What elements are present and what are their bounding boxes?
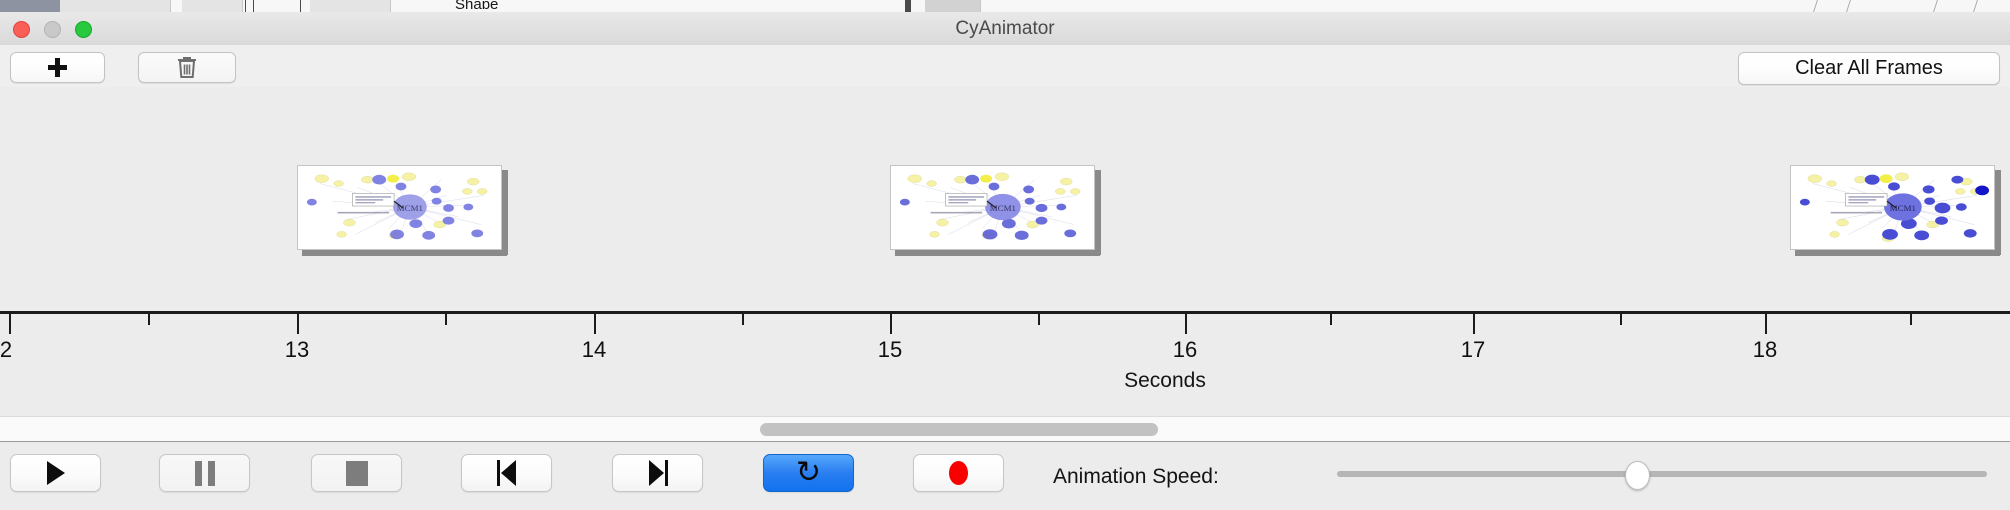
ruler-tick-major [1473, 314, 1475, 334]
stop-icon [346, 461, 368, 486]
ruler-tick-minor [1330, 314, 1332, 325]
scrollbar-thumb[interactable] [760, 423, 1158, 436]
frame-shadow [502, 170, 508, 255]
background-window-titlebar [0, 0, 60, 12]
network-thumbnail-image: MCM1 [891, 166, 1094, 249]
background-chunk [182, 0, 243, 12]
axis-title-label: Seconds [1124, 369, 1206, 392]
timeline-frame[interactable]: MCM1 [297, 165, 502, 250]
ruler-label: 13 [285, 337, 309, 363]
ruler-tick-minor [1910, 314, 1912, 325]
skip-forward-icon [645, 460, 671, 486]
network-thumbnail-image: MCM1 [1791, 166, 1994, 249]
previous-frame-button[interactable] [461, 454, 552, 492]
add-frame-button[interactable] [10, 52, 105, 83]
animation-speed-slider-track[interactable] [1337, 471, 1987, 477]
ruler-tick-major [1765, 314, 1767, 334]
background-tick [300, 0, 301, 12]
animation-speed-label: Animation Speed: [1053, 465, 1219, 489]
ruler-tick-major [9, 314, 11, 334]
frame-thumbnail: MCM1 [297, 165, 502, 250]
loop-button[interactable]: ↻ [763, 454, 854, 492]
ruler-tick-minor [148, 314, 150, 325]
animation-speed-slider-thumb[interactable] [1625, 461, 1650, 490]
record-icon [949, 461, 968, 485]
ruler-label: 14 [582, 337, 606, 363]
background-tick [905, 0, 911, 12]
svg-text:MCM1: MCM1 [397, 203, 423, 213]
next-frame-button[interactable] [612, 454, 703, 492]
timeline-frame[interactable]: MCM1 [1790, 165, 1995, 250]
ruler-label: 17 [1461, 337, 1485, 363]
loop-icon: ↻ [796, 458, 821, 488]
background-chunk [310, 0, 391, 12]
frame-shadow [1095, 170, 1101, 255]
window-title: CyAnimator [0, 12, 2010, 45]
clear-all-frames-button[interactable]: Clear All Frames [1738, 52, 2000, 85]
record-button[interactable] [913, 454, 1004, 492]
playback-toolbar: ↻ Animation Speed: [0, 443, 2010, 510]
timeline-frame[interactable]: MCM1 [890, 165, 1095, 250]
pause-button[interactable] [159, 454, 250, 492]
axis-title: Seconds [0, 369, 2010, 393]
ruler-tick-major [890, 314, 892, 334]
ruler-tick-minor [445, 314, 447, 325]
trash-icon [176, 55, 198, 80]
background-slant [1846, 0, 1851, 12]
ruler-label: 15 [878, 337, 902, 363]
frame-shadow [302, 250, 507, 256]
ruler-tick-major [297, 314, 299, 334]
ruler-label: 18 [1753, 337, 1777, 363]
background-slant [1973, 0, 1978, 12]
background-window-label: Shape [455, 0, 498, 9]
svg-text:MCM1: MCM1 [1890, 203, 1916, 213]
background-slant [1813, 0, 1818, 12]
play-icon [47, 461, 65, 485]
frame-shadow [895, 250, 1100, 256]
background-chunk [60, 0, 171, 12]
stop-button[interactable] [311, 454, 402, 492]
horizontal-scrollbar[interactable] [0, 416, 2010, 442]
timeline-canvas[interactable]: MCM1 [0, 87, 2010, 416]
play-button[interactable] [10, 454, 101, 492]
ruler-label: 2 [0, 337, 12, 363]
ruler-tick-minor [742, 314, 744, 325]
background-tick [253, 0, 254, 12]
ruler-tick-minor [1620, 314, 1622, 325]
frame-thumbnail: MCM1 [1790, 165, 1995, 250]
window-titlebar: CyAnimator [0, 12, 2010, 46]
delete-frame-button[interactable] [138, 52, 236, 83]
ruler-tick-minor [1038, 314, 1040, 325]
ruler-tick-major [594, 314, 596, 334]
ruler-tick-major [1185, 314, 1187, 334]
plus-icon [48, 58, 67, 77]
ruler-label: 16 [1173, 337, 1197, 363]
skip-back-icon [494, 460, 520, 486]
frame-thumbnail: MCM1 [890, 165, 1095, 250]
timeline-ruler-line [0, 311, 2010, 314]
background-tick [245, 0, 246, 12]
cyanimator-window: Shape CyAnimator Clear All Frames [0, 0, 2010, 510]
svg-text:MCM1: MCM1 [990, 203, 1016, 213]
background-chunk [925, 0, 981, 12]
frame-shadow [1795, 250, 2000, 256]
frame-shadow [1995, 170, 2001, 255]
background-slant [1933, 0, 1938, 12]
pause-icon [195, 461, 215, 486]
toolbar: Clear All Frames [0, 45, 2010, 88]
network-thumbnail-image: MCM1 [298, 166, 501, 249]
clear-all-frames-label: Clear All Frames [1795, 57, 1943, 80]
